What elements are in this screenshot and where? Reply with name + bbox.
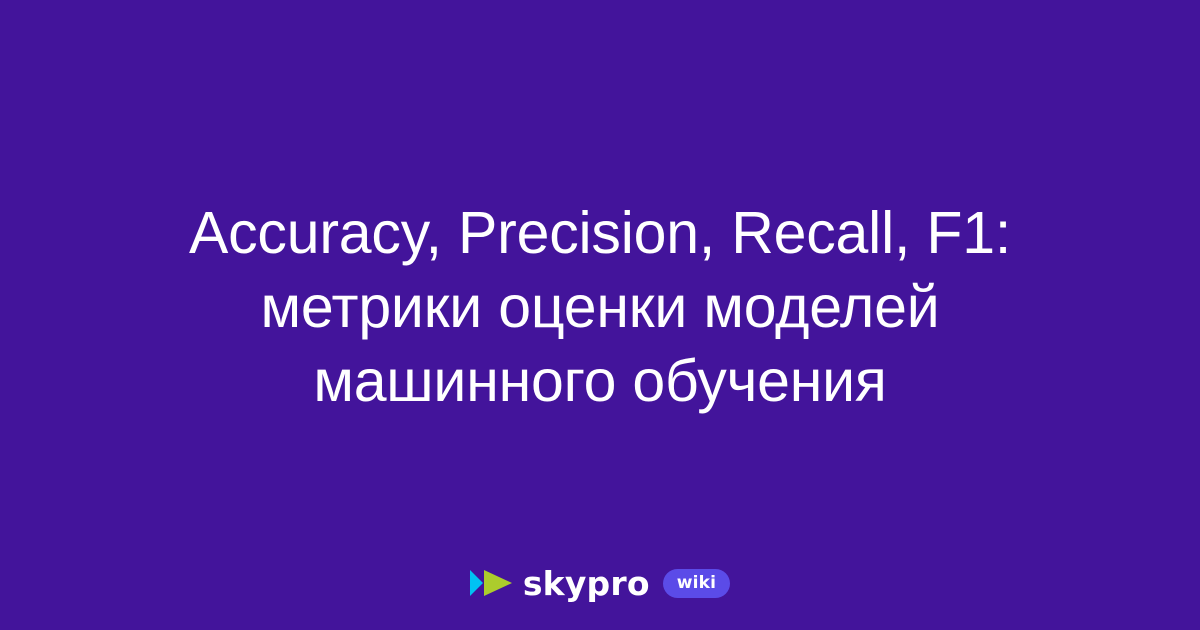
wiki-badge[interactable]: wiki (663, 569, 730, 598)
hero-title-block: Accuracy, Precision, Recall, F1: метрики… (0, 196, 1200, 418)
page-title-line-3: машинного обучения (189, 344, 1011, 418)
page-title-line-2: метрики оценки моделей (189, 270, 1011, 344)
footer-branding: skypro wiki (0, 566, 1200, 600)
skypro-play-mark-icon (470, 570, 512, 596)
skypro-wordmark: skypro (523, 567, 650, 600)
page-title: Accuracy, Precision, Recall, F1: метрики… (189, 196, 1011, 418)
skypro-wiki-logo[interactable]: skypro wiki (470, 566, 730, 600)
og-card: Accuracy, Precision, Recall, F1: метрики… (0, 0, 1200, 630)
page-title-line-1: Accuracy, Precision, Recall, F1: (189, 196, 1011, 270)
